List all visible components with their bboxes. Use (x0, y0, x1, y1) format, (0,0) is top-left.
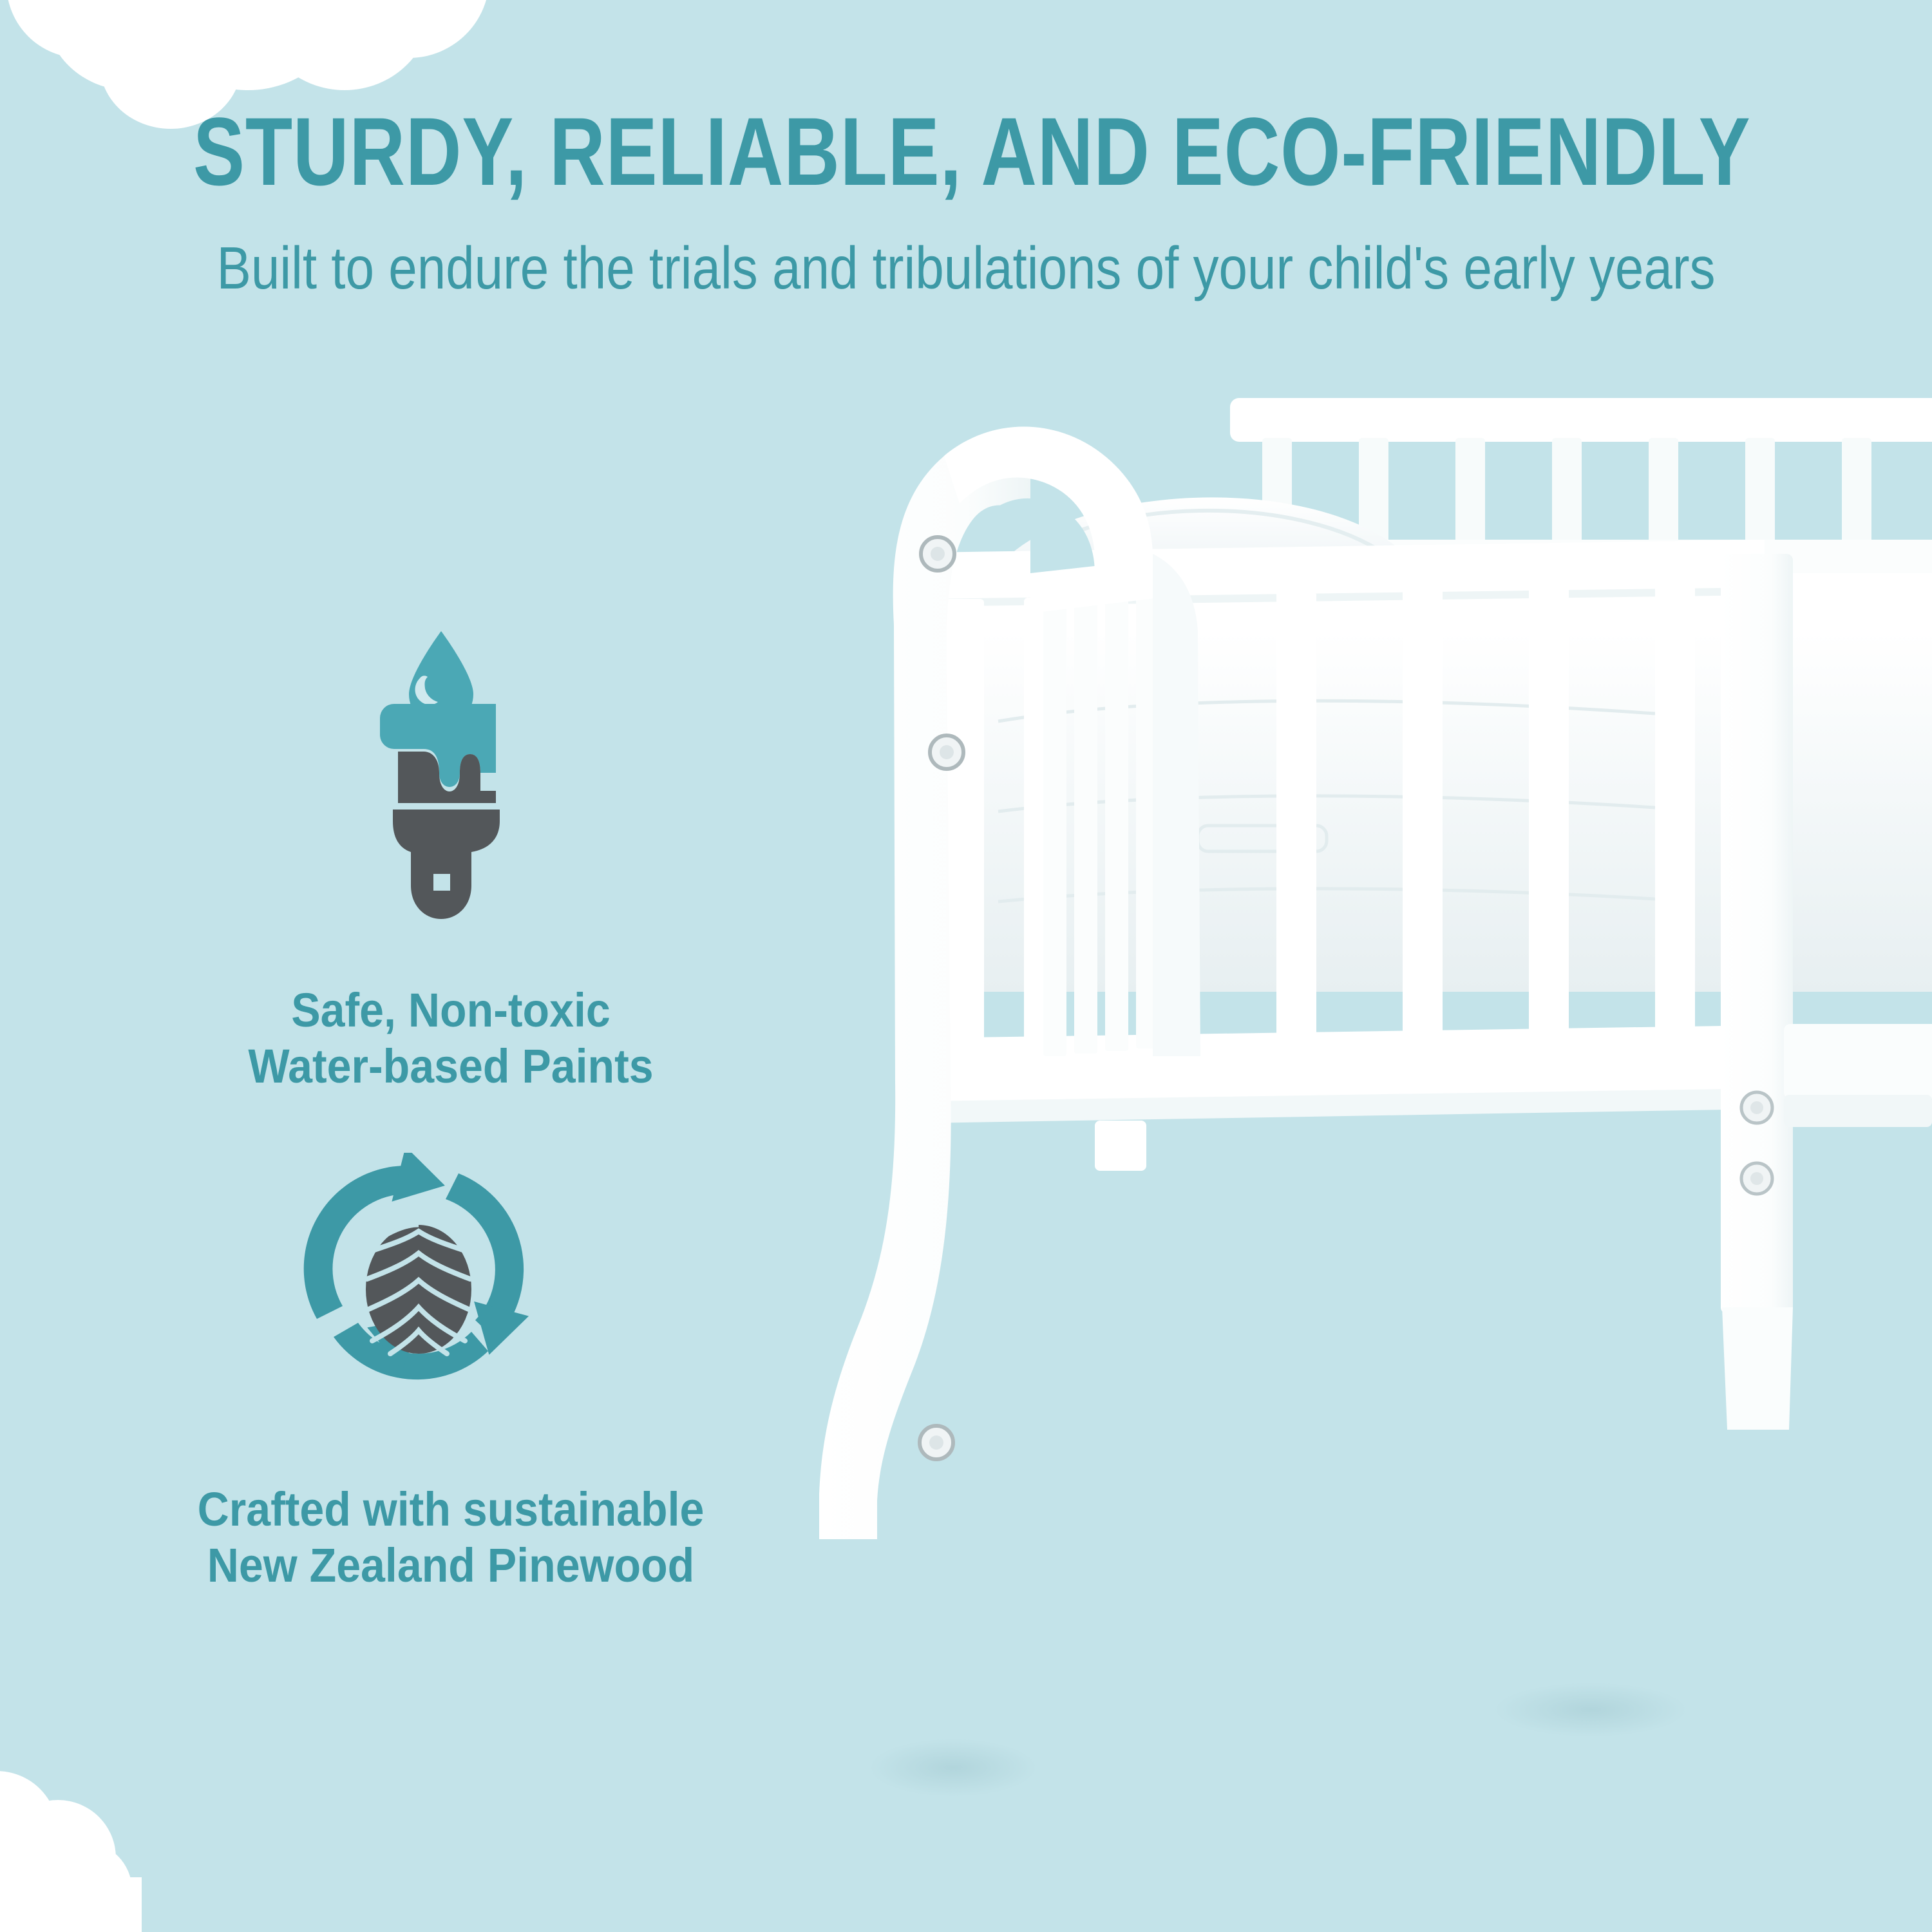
cloud-icon-bottom-small (0, 1890, 167, 1932)
feature-caption-paints-line1: Safe, Non-toxic (36, 982, 866, 1038)
page-title: STURDY, RELIABLE, AND ECO-FRIENDLY (193, 103, 1739, 200)
product-image-toddler-bed (818, 361, 1932, 1810)
feature-caption-paints-line2: Water-based Paints (36, 1038, 866, 1094)
cloud-icon-bottom (0, 1765, 258, 1932)
infographic-canvas: STURDY, RELIABLE, AND ECO-FRIENDLY Built… (0, 0, 1932, 1932)
paint-brush-water-drop-icon (374, 628, 560, 943)
feature-caption-wood: Crafted with sustainable New Zealand Pin… (36, 1481, 866, 1594)
recycle-pinecone-icon (303, 1153, 535, 1385)
feature-caption-paints: Safe, Non-toxic Water-based Paints (36, 982, 866, 1095)
feature-caption-wood-line2: New Zealand Pinewood (36, 1537, 866, 1593)
feature-caption-wood-line1: Crafted with sustainable (36, 1481, 866, 1537)
page-subtitle: Built to endure the trials and tribulati… (135, 238, 1797, 298)
